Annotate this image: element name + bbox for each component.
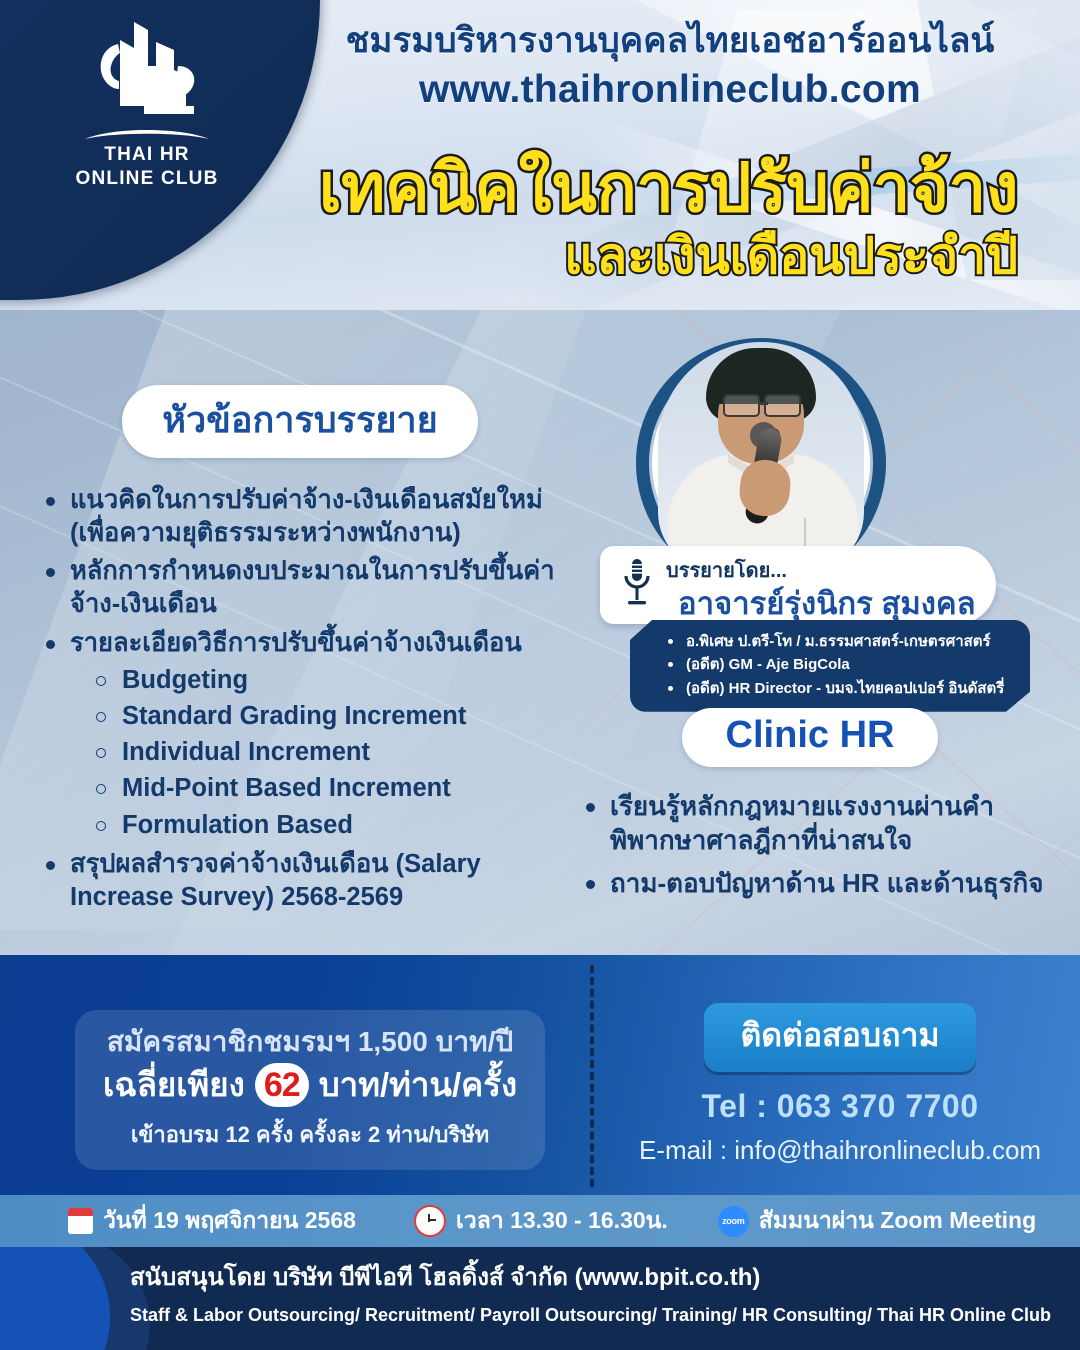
eyeglasses-icon bbox=[722, 394, 802, 413]
event-platform: สัมมนาผ่าน Zoom Meeting bbox=[759, 1203, 1036, 1239]
contact-phone[interactable]: Tel : 063 370 7700 bbox=[620, 1088, 1060, 1125]
clinic-heading-pill: Clinic HR bbox=[682, 708, 939, 767]
topic-subitem: Budgeting bbox=[70, 662, 560, 698]
event-date: วันที่ 19 พฤศจิกายน 2568 bbox=[103, 1203, 356, 1239]
membership-price-card: สมัครสมาชิกชมรมฯ 1,500 บาท/ปี เฉลี่ยเพีย… bbox=[75, 1010, 545, 1170]
header-section: THAI HR ONLINE CLUB ชมรมบริหารงานบุคคลไท… bbox=[0, 0, 1080, 310]
topic-item: รายละเอียดวิธีการปรับขึ้นค่าจ้างเงินเดือ… bbox=[40, 627, 560, 843]
building-logo-icon bbox=[82, 18, 212, 123]
topic-subitem: Standard Grading Increment bbox=[70, 698, 560, 734]
average-price-suffix: บาท/ท่าน/ครั้ง bbox=[319, 1065, 517, 1105]
speaker-photo bbox=[658, 342, 864, 572]
clock-icon bbox=[414, 1205, 446, 1237]
topic-text: รายละเอียดวิธีการปรับขึ้นค่าจ้างเงินเดือ… bbox=[70, 629, 522, 657]
page-title: เทคนิคในการปรับค่าจ้าง และเงินเดือนประจำ… bbox=[40, 155, 1040, 286]
topic-subitem: Mid-Point Based Increment bbox=[70, 770, 560, 806]
topic-item: สรุปผลสำรวจค่าจ้างเงินเดือน (Salary Incr… bbox=[40, 848, 560, 914]
platform-entry: zoom สัมมนาผ่าน Zoom Meeting bbox=[718, 1203, 1036, 1239]
topics-heading-row: หัวข้อการบรรยาย bbox=[40, 385, 560, 458]
speaker-name-card: บรรยายโดย... อาจารย์รุ่งนิกร สุมงคล bbox=[600, 546, 996, 624]
contact-panel: ติดต่อสอบถาม Tel : 063 370 7700 E-mail :… bbox=[620, 1003, 1060, 1166]
clinic-panel: Clinic HR เรียนรู้หลักกฎหมายแรงงานผ่านคำ… bbox=[570, 708, 1050, 908]
title-line-2: และเงินเดือนประจำปี bbox=[40, 228, 1018, 286]
date-time-bar: วันที่ 19 พฤศจิกายน 2568 เวลา 13.30 - 16… bbox=[0, 1195, 1080, 1247]
topic-text: สรุปผลสำรวจค่าจ้างเงินเดือน (Salary Incr… bbox=[70, 850, 481, 911]
topic-text: แนวคิดในการปรับค่าจ้าง-เงินเดือนสมัยใหม่… bbox=[70, 486, 543, 547]
seminar-poster: THAI HR ONLINE CLUB ชมรมบริหารงานบุคคลไท… bbox=[0, 0, 1080, 1350]
club-name: ชมรมบริหารงานบุคคลไทยเอชอาร์ออนไลน์ bbox=[300, 18, 1040, 64]
event-time: เวลา 13.30 - 16.30น. bbox=[456, 1203, 668, 1239]
topic-item: แนวคิดในการปรับค่าจ้าง-เงินเดือนสมัยใหม่… bbox=[40, 484, 560, 550]
clinic-item: เรียนรู้หลักกฎหมายแรงงานผ่านคำพิพากษาศาล… bbox=[580, 789, 1050, 858]
club-heading: ชมรมบริหารงานบุคคลไทยเอชอาร์ออนไลน์ www.… bbox=[300, 18, 1040, 116]
title-line-1: เทคนิคในการปรับค่าจ้าง bbox=[40, 155, 1018, 222]
date-entry: วันที่ 19 พฤศจิกายน 2568 bbox=[68, 1203, 356, 1239]
clinic-list: เรียนรู้หลักกฎหมายแรงงานผ่านคำพิพากษาศาล… bbox=[580, 789, 1050, 900]
logo-swoosh-icon bbox=[83, 125, 211, 141]
speaker-credentials: อ.พิเศษ ป.ตรี-โท / ม.ธรรมศาสตร์-เกษตรศาส… bbox=[630, 620, 1030, 712]
average-price-amount: 62 bbox=[255, 1063, 309, 1107]
contact-button[interactable]: ติดต่อสอบถาม bbox=[704, 1003, 975, 1072]
contact-email[interactable]: E-mail : info@thaihronlineclub.com bbox=[620, 1135, 1060, 1166]
clinic-item: ถาม-ตอบปัญหาด้าน HR และด้านธุรกิจ bbox=[580, 866, 1050, 900]
membership-fee-line: สมัครสมาชิกชมรมฯ 1,500 บาท/ปี bbox=[85, 1024, 535, 1059]
topic-text: หลักการกำหนดงบประมาณในการปรับขึ้นค่าจ้าง… bbox=[70, 557, 555, 618]
clinic-heading-row: Clinic HR bbox=[570, 708, 1050, 767]
topic-sublist: Budgeting Standard Grading Increment Ind… bbox=[70, 662, 560, 843]
sessions-note: เข้าอบรม 12 ครั้ง ครั้งละ 2 ท่าน/บริษัท bbox=[85, 1117, 535, 1152]
average-price-line: เฉลี่ยเพียง 62 บาท/ท่าน/ครั้ง bbox=[85, 1063, 535, 1107]
footer-section: สนับสนุนโดย บริษัท บีพีไอที โฮลดิ้งส์ จำ… bbox=[0, 1247, 1080, 1350]
vertical-dashed-divider bbox=[590, 965, 594, 1187]
sponsor-line: สนับสนุนโดย บริษัท บีพีไอที โฮลดิ้งส์ จำ… bbox=[130, 1263, 1060, 1293]
topics-heading-pill: หัวข้อการบรรยาย bbox=[122, 385, 477, 458]
microphone-icon bbox=[622, 558, 652, 610]
speaker-panel: บรรยายโดย... อาจารย์รุ่งนิกร สุมงคล อ.พิ… bbox=[600, 328, 1040, 658]
credential-item: (อดีต) HR Director - บมจ.ไทยคอปเปอร์ อิน… bbox=[664, 677, 1014, 700]
topic-subitem: Individual Increment bbox=[70, 734, 560, 770]
calendar-icon bbox=[68, 1208, 93, 1234]
topic-item: หลักการกำหนดงบประมาณในการปรับขึ้นค่าจ้าง… bbox=[40, 555, 560, 621]
footer-decoration-blue bbox=[0, 1247, 110, 1350]
topics-panel: หัวข้อการบรรยาย แนวคิดในการปรับค่าจ้าง-เ… bbox=[40, 385, 560, 919]
average-price-prefix: เฉลี่ยเพียง bbox=[103, 1065, 245, 1105]
footer-text: สนับสนุนโดย บริษัท บีพีไอที โฮลดิ้งส์ จำ… bbox=[130, 1263, 1060, 1327]
content-section: หัวข้อการบรรยาย แนวคิดในการปรับค่าจ้าง-เ… bbox=[0, 310, 1080, 955]
topic-subitem: Formulation Based bbox=[70, 807, 560, 843]
time-entry: เวลา 13.30 - 16.30น. bbox=[414, 1203, 668, 1239]
club-website: www.thaihronlineclub.com bbox=[300, 64, 1040, 115]
credential-item: อ.พิเศษ ป.ตรี-โท / ม.ธรรมศาสตร์-เกษตรศาส… bbox=[664, 630, 1014, 653]
credential-item: (อดีต) GM - Aje BigCola bbox=[664, 653, 1014, 676]
topics-list: แนวคิดในการปรับค่าจ้าง-เงินเดือนสมัยใหม่… bbox=[40, 484, 560, 914]
zoom-icon: zoom bbox=[718, 1206, 749, 1237]
services-line: Staff & Labor Outsourcing/ Recruitment/ … bbox=[130, 1305, 1060, 1327]
pricing-contact-band: สมัครสมาชิกชมรมฯ 1,500 บาท/ปี เฉลี่ยเพีย… bbox=[0, 955, 1080, 1195]
